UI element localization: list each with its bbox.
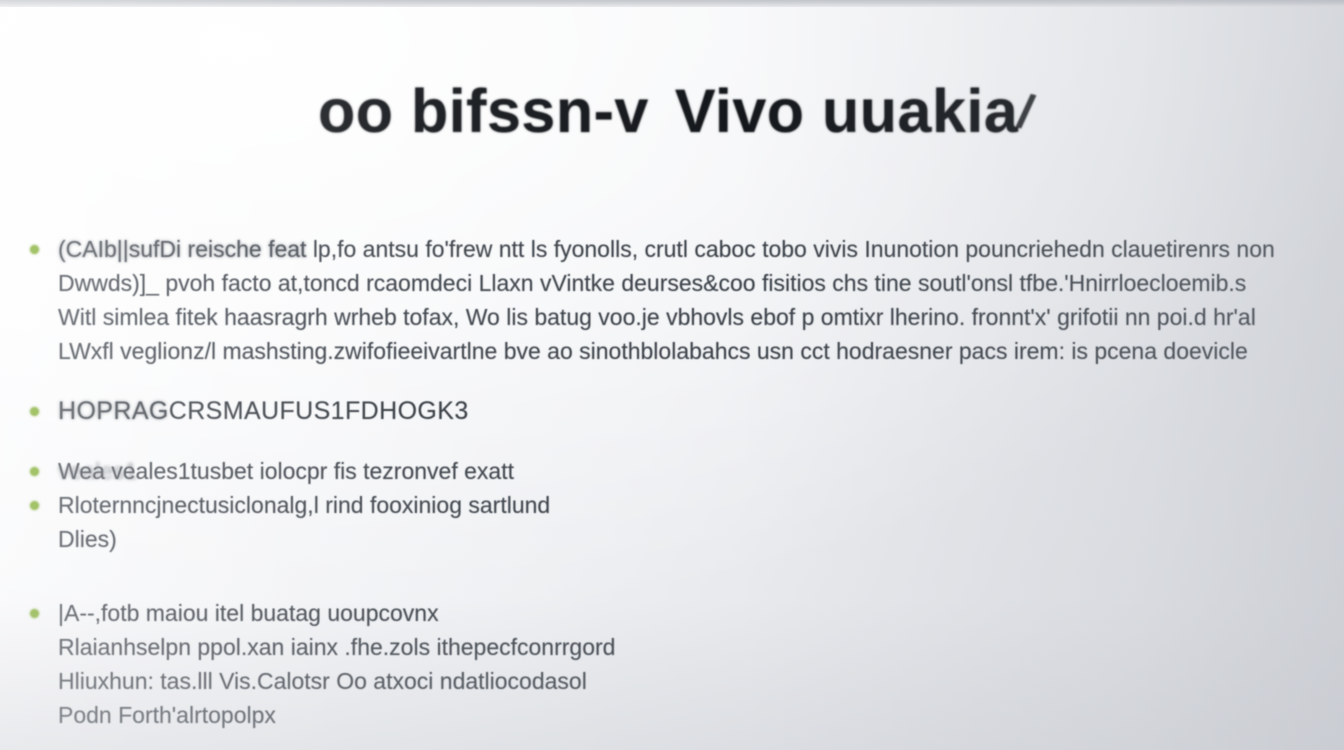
bullet-text: Rlaianhselpn ppol.xan iainx .fhe.zols it… [58,634,615,660]
bullet-text: Witl simlea fitek haasragrh wrheb tofax,… [58,304,1256,330]
bullet-text-continuation: Hliuxhun: tas.lll Vis.Calotsr Oo atxoci … [0,664,1344,698]
slide-title: oo bifssn-vVivo uuakia/ [318,76,1032,146]
presentation-slide: oo bifssn-vVivo uuakia/ (CAIb||sufDi rei… [0,0,1344,750]
bullet-list-item: Rloternncjnectusiclonalg,l rind fooxinio… [0,488,1344,522]
bullet-text: |A--,fotb maiou itel buatag uoupcovnx [58,600,439,626]
bullet-list-item: (CAIb||sufDi reische feat lp,fo antsu fo… [0,232,1344,266]
bullet-list-item: |A--,fotb maiou itel buatag uoupcovnx [0,596,1344,630]
bullet-marker-icon [30,609,39,618]
bullet-block: Rloternncjnectusiclonalg,l rind fooxinio… [0,488,1344,556]
bullet-text: Dwwds)]_ pvoh facto at,toncd rcaomdeci L… [58,270,1246,296]
bullet-text: HOPRAGCRSMAUFUS1FDHOGK3 [58,397,469,425]
block-spacer [0,428,1344,454]
bullet-text: LWxfl veglionz/l mashsting.zwifofieeivar… [58,338,1248,364]
block-spacer [0,556,1344,582]
bullet-text-continuation: LWxfl veglionz/l mashsting.zwifofieeivar… [0,334,1344,368]
bullet-text: Podn Forth'alrtopolpx [58,702,276,728]
bullet-marker-icon [30,407,39,416]
slide-title-part-2: Vivo uuakia [675,77,1018,145]
block-spacer [0,582,1344,596]
bullet-block: |A--,fotb maiou itel buatag uoupcovnx Rl… [0,596,1344,732]
bullet-text: Wea veales1tusbet iolocpr fis tezronvef … [58,458,514,484]
bullet-list-item: HOPRAGCRSMAUFUS1FDHOGK3 HOPRAG [0,394,1344,428]
bullet-text-continuation: Podn Forth'alrtopolpx [0,698,1344,732]
bullet-marker-icon [30,245,39,254]
bullet-text: Hliuxhun: tas.lll Vis.Calotsr Oo atxoci … [58,668,587,694]
bullet-marker-icon [30,467,39,476]
bullet-text: Rloternncjnectusiclonalg,l rind fooxinio… [58,492,550,518]
slide-body: (CAIb||sufDi reische feat lp,fo antsu fo… [0,232,1344,732]
bullet-block: Wea veales1tusbet iolocpr fis tezronvef … [0,454,1344,488]
bullet-list-item: Wea veales1tusbet iolocpr fis tezronvef … [0,454,1344,488]
bullet-text-continuation: Witl simlea fitek haasragrh wrheb tofax,… [0,300,1344,334]
bullet-marker-icon [30,501,39,510]
bullet-text: (CAIb||sufDi reische feat lp,fo antsu fo… [58,236,1275,262]
bullet-text-continuation: Rlaianhselpn ppol.xan iainx .fhe.zols it… [0,630,1344,664]
block-spacer [0,368,1344,394]
bullet-text-continuation: Dwwds)]_ pvoh facto at,toncd rcaomdeci L… [0,266,1344,300]
bullet-text-continuation: Dlies) [0,522,1344,556]
bullet-block: HOPRAGCRSMAUFUS1FDHOGK3 HOPRAG [0,394,1344,428]
bullet-block: (CAIb||sufDi reische feat lp,fo antsu fo… [0,232,1344,368]
bullet-text: Dlies) [58,526,117,552]
slide-title-part-1: oo bifssn-v [318,77,649,145]
slide-top-edge-strip [0,0,1344,7]
